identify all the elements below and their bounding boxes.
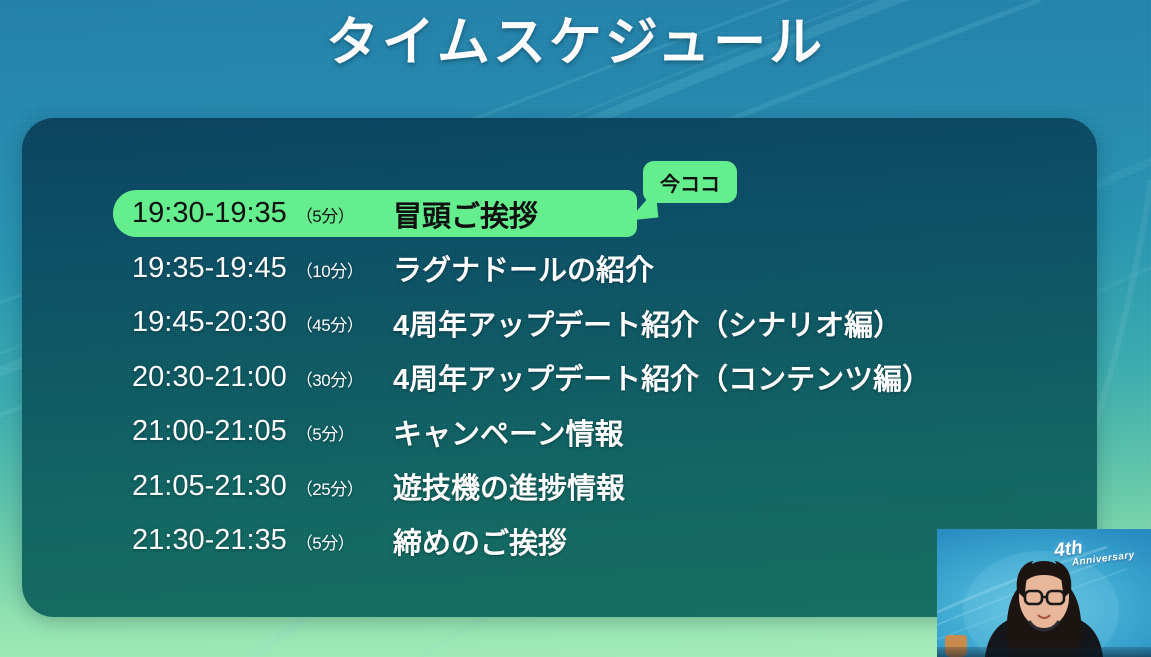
time-range: 20:30-21:00	[132, 361, 287, 394]
callout-label: 今ココ	[660, 168, 720, 197]
schedule-row-time: 19:45-20:30（45分）	[113, 306, 338, 339]
time-duration: （25分）	[296, 475, 363, 500]
schedule-row: 21:30-21:35（5分）締めのご挨拶	[113, 517, 1013, 564]
time-range: 19:35-19:45	[132, 252, 287, 285]
schedule-row-time: 21:05-21:30（25分）	[113, 470, 338, 503]
time-range: 21:00-21:05	[132, 415, 287, 448]
schedule-row: 19:35-19:45（10分）ラグナドールの紹介	[113, 245, 1013, 292]
presenter-video	[937, 529, 1151, 657]
schedule-row-time: 20:30-21:00（30分）	[113, 361, 338, 394]
time-duration: （45分）	[296, 311, 363, 336]
schedule-row: 20:30-21:00（30分）4周年アップデート紹介（コンテンツ編）	[113, 354, 1013, 401]
desk-edge	[937, 647, 1151, 657]
time-range: 21:30-21:35	[132, 524, 287, 557]
schedule-row-topic: キャンペーン情報	[393, 411, 624, 453]
schedule-panel: 19:30-19:35（5分）冒頭ご挨拶19:35-19:45（10分）ラグナド…	[22, 118, 1097, 617]
schedule-row-time: 21:30-21:35（5分）	[113, 524, 338, 557]
time-duration: （5分）	[296, 529, 354, 554]
callout-tail-icon	[626, 190, 659, 221]
schedule-row-topic: 冒頭ご挨拶	[393, 193, 538, 235]
time-range: 19:45-20:30	[132, 306, 287, 339]
webcam-inset[interactable]: 4th Anniversary	[937, 529, 1151, 657]
schedule-row-time: 19:30-19:35（5分）	[113, 197, 338, 230]
schedule-row: 21:00-21:05（5分）キャンペーン情報	[113, 408, 1013, 455]
time-range: 21:05-21:30	[132, 470, 287, 503]
schedule-row: 19:45-20:30（45分）4周年アップデート紹介（シナリオ編）	[113, 299, 1013, 346]
time-range: 19:30-19:35	[132, 197, 287, 230]
schedule-row-topic: 締めのご挨拶	[393, 520, 567, 562]
time-duration: （10分）	[296, 257, 363, 282]
time-duration: （5分）	[296, 202, 354, 227]
schedule-row-topic: 4周年アップデート紹介（コンテンツ編）	[393, 356, 931, 398]
schedule-row-topic: 遊技機の進捗情報	[393, 465, 625, 507]
schedule-row-topic: ラグナドールの紹介	[393, 247, 654, 289]
page-title: タイムスケジュール	[0, 14, 1151, 72]
current-position-callout: 今ココ	[643, 161, 737, 203]
slide-stage: タイムスケジュール 19:30-19:35（5分）冒頭ご挨拶19:35-19:4…	[0, 0, 1151, 657]
schedule-row: 19:30-19:35（5分）冒頭ご挨拶	[113, 190, 1013, 237]
time-duration: （30分）	[296, 366, 363, 391]
schedule-row: 21:05-21:30（25分）遊技機の進捗情報	[113, 463, 1013, 510]
schedule-row-time: 21:00-21:05（5分）	[113, 415, 338, 448]
schedule-list: 19:30-19:35（5分）冒頭ご挨拶19:35-19:45（10分）ラグナド…	[22, 118, 1097, 617]
schedule-row-topic: 4周年アップデート紹介（シナリオ編）	[393, 302, 902, 344]
time-duration: （5分）	[296, 420, 354, 445]
schedule-row-time: 19:35-19:45（10分）	[113, 252, 338, 285]
